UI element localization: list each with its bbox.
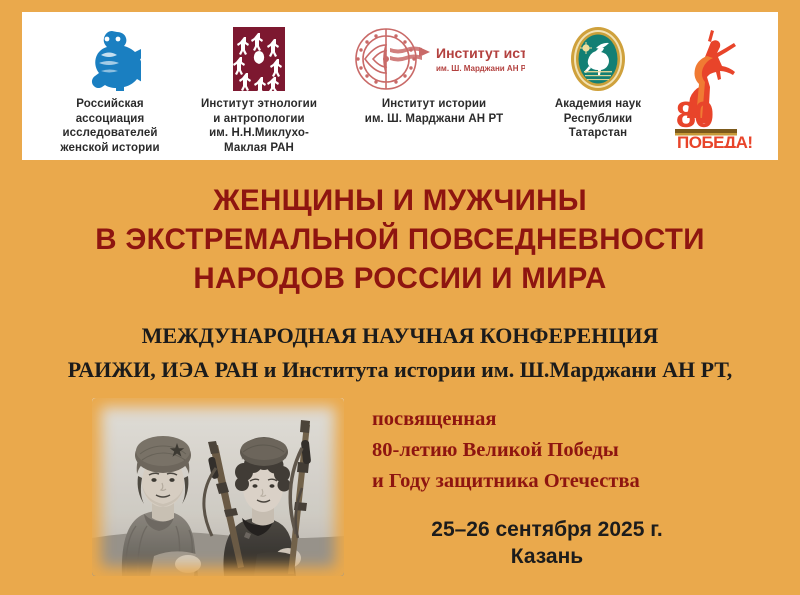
victory-emblem-word: ПОБЕДА! [677,133,753,148]
winged-snow-leopard-seal-icon [570,26,626,92]
logo-caption-academy-tatarstan: Академия наук Республики Татарстан [555,97,641,141]
poster-subtitle: МЕЖДУНАРОДНАЯ НАУЧНАЯ КОНФЕРЕНЦИЯ РАИЖИ,… [0,319,800,387]
marjani-emblem-text-line1: Институт истории [436,45,525,61]
logo-block-iea-ran: Институт этнологии и антропологии им. Н.… [184,26,334,156]
conference-poster: Российская ассоциация исследователей жен… [0,0,800,595]
poster-dedication: посвященная 80-летию Великой Победы и Го… [372,404,772,497]
conference-city: Казань [372,544,722,571]
logo-caption-raizhi: Российская ассоциация исследователей жен… [60,97,159,156]
rock-art-figures-emblem-icon [233,26,285,92]
logo-block-raizhi: Российская ассоциация исследователей жен… [44,26,176,156]
dedication-line-3: и Году защитника Отечества [372,466,772,497]
historical-photograph [92,398,344,576]
logo-block-academy-tatarstan: Академия наук Республики Татарстан [534,26,662,141]
dedication-line-2: 80-летию Великой Победы [372,435,772,466]
title-line-3: НАРОДОВ РОССИИ И МИРА [0,260,800,299]
conference-date: 25–26 сентября 2025 г. [372,517,722,544]
poster-main-title: ЖЕНЩИНЫ И МУЖЧИНЫ В ЭКСТРЕМАЛЬНОЙ ПОВСЕД… [0,182,800,299]
poster-date-location: 25–26 сентября 2025 г. Казань [372,517,722,570]
subtitle-line-1: МЕЖДУНАРОДНАЯ НАУЧНАЯ КОНФЕРЕНЦИЯ [0,319,800,353]
title-line-1: ЖЕНЩИНЫ И МУЖЧИНЫ [0,182,800,221]
logo-block-marjani: Институт истории им. Ш. Марджани АН РТ И… [342,26,526,126]
dedication-line-1: посвященная [372,404,772,435]
tatar-ornament-emblem-icon: Институт истории им. Ш. Марджани АН РТ [343,26,525,92]
firebird-emblem-icon [79,26,141,92]
motherland-calls-statue-icon: 80 ПОБЕДА! [673,26,753,146]
subtitle-line-2: РАИЖИ, ИЭА РАН и Института истории им. Ш… [0,353,800,387]
logo-block-victory-80: 80 ПОБЕДА! [670,26,756,151]
sponsor-logo-band: Российская ассоциация исследователей жен… [22,12,778,160]
logo-caption-iea-ran: Институт этнологии и антропологии им. Н.… [201,97,317,156]
title-line-2: В ЭКСТРЕМАЛЬНОЙ ПОВСЕДНЕВНОСТИ [0,221,800,260]
photograph-frame [92,398,344,576]
marjani-emblem-text-line2: им. Ш. Марджани АН РТ [436,64,525,73]
victory-emblem-number: 80 [676,94,713,135]
logo-caption-marjani: Институт истории им. Ш. Марджани АН РТ [365,97,503,126]
